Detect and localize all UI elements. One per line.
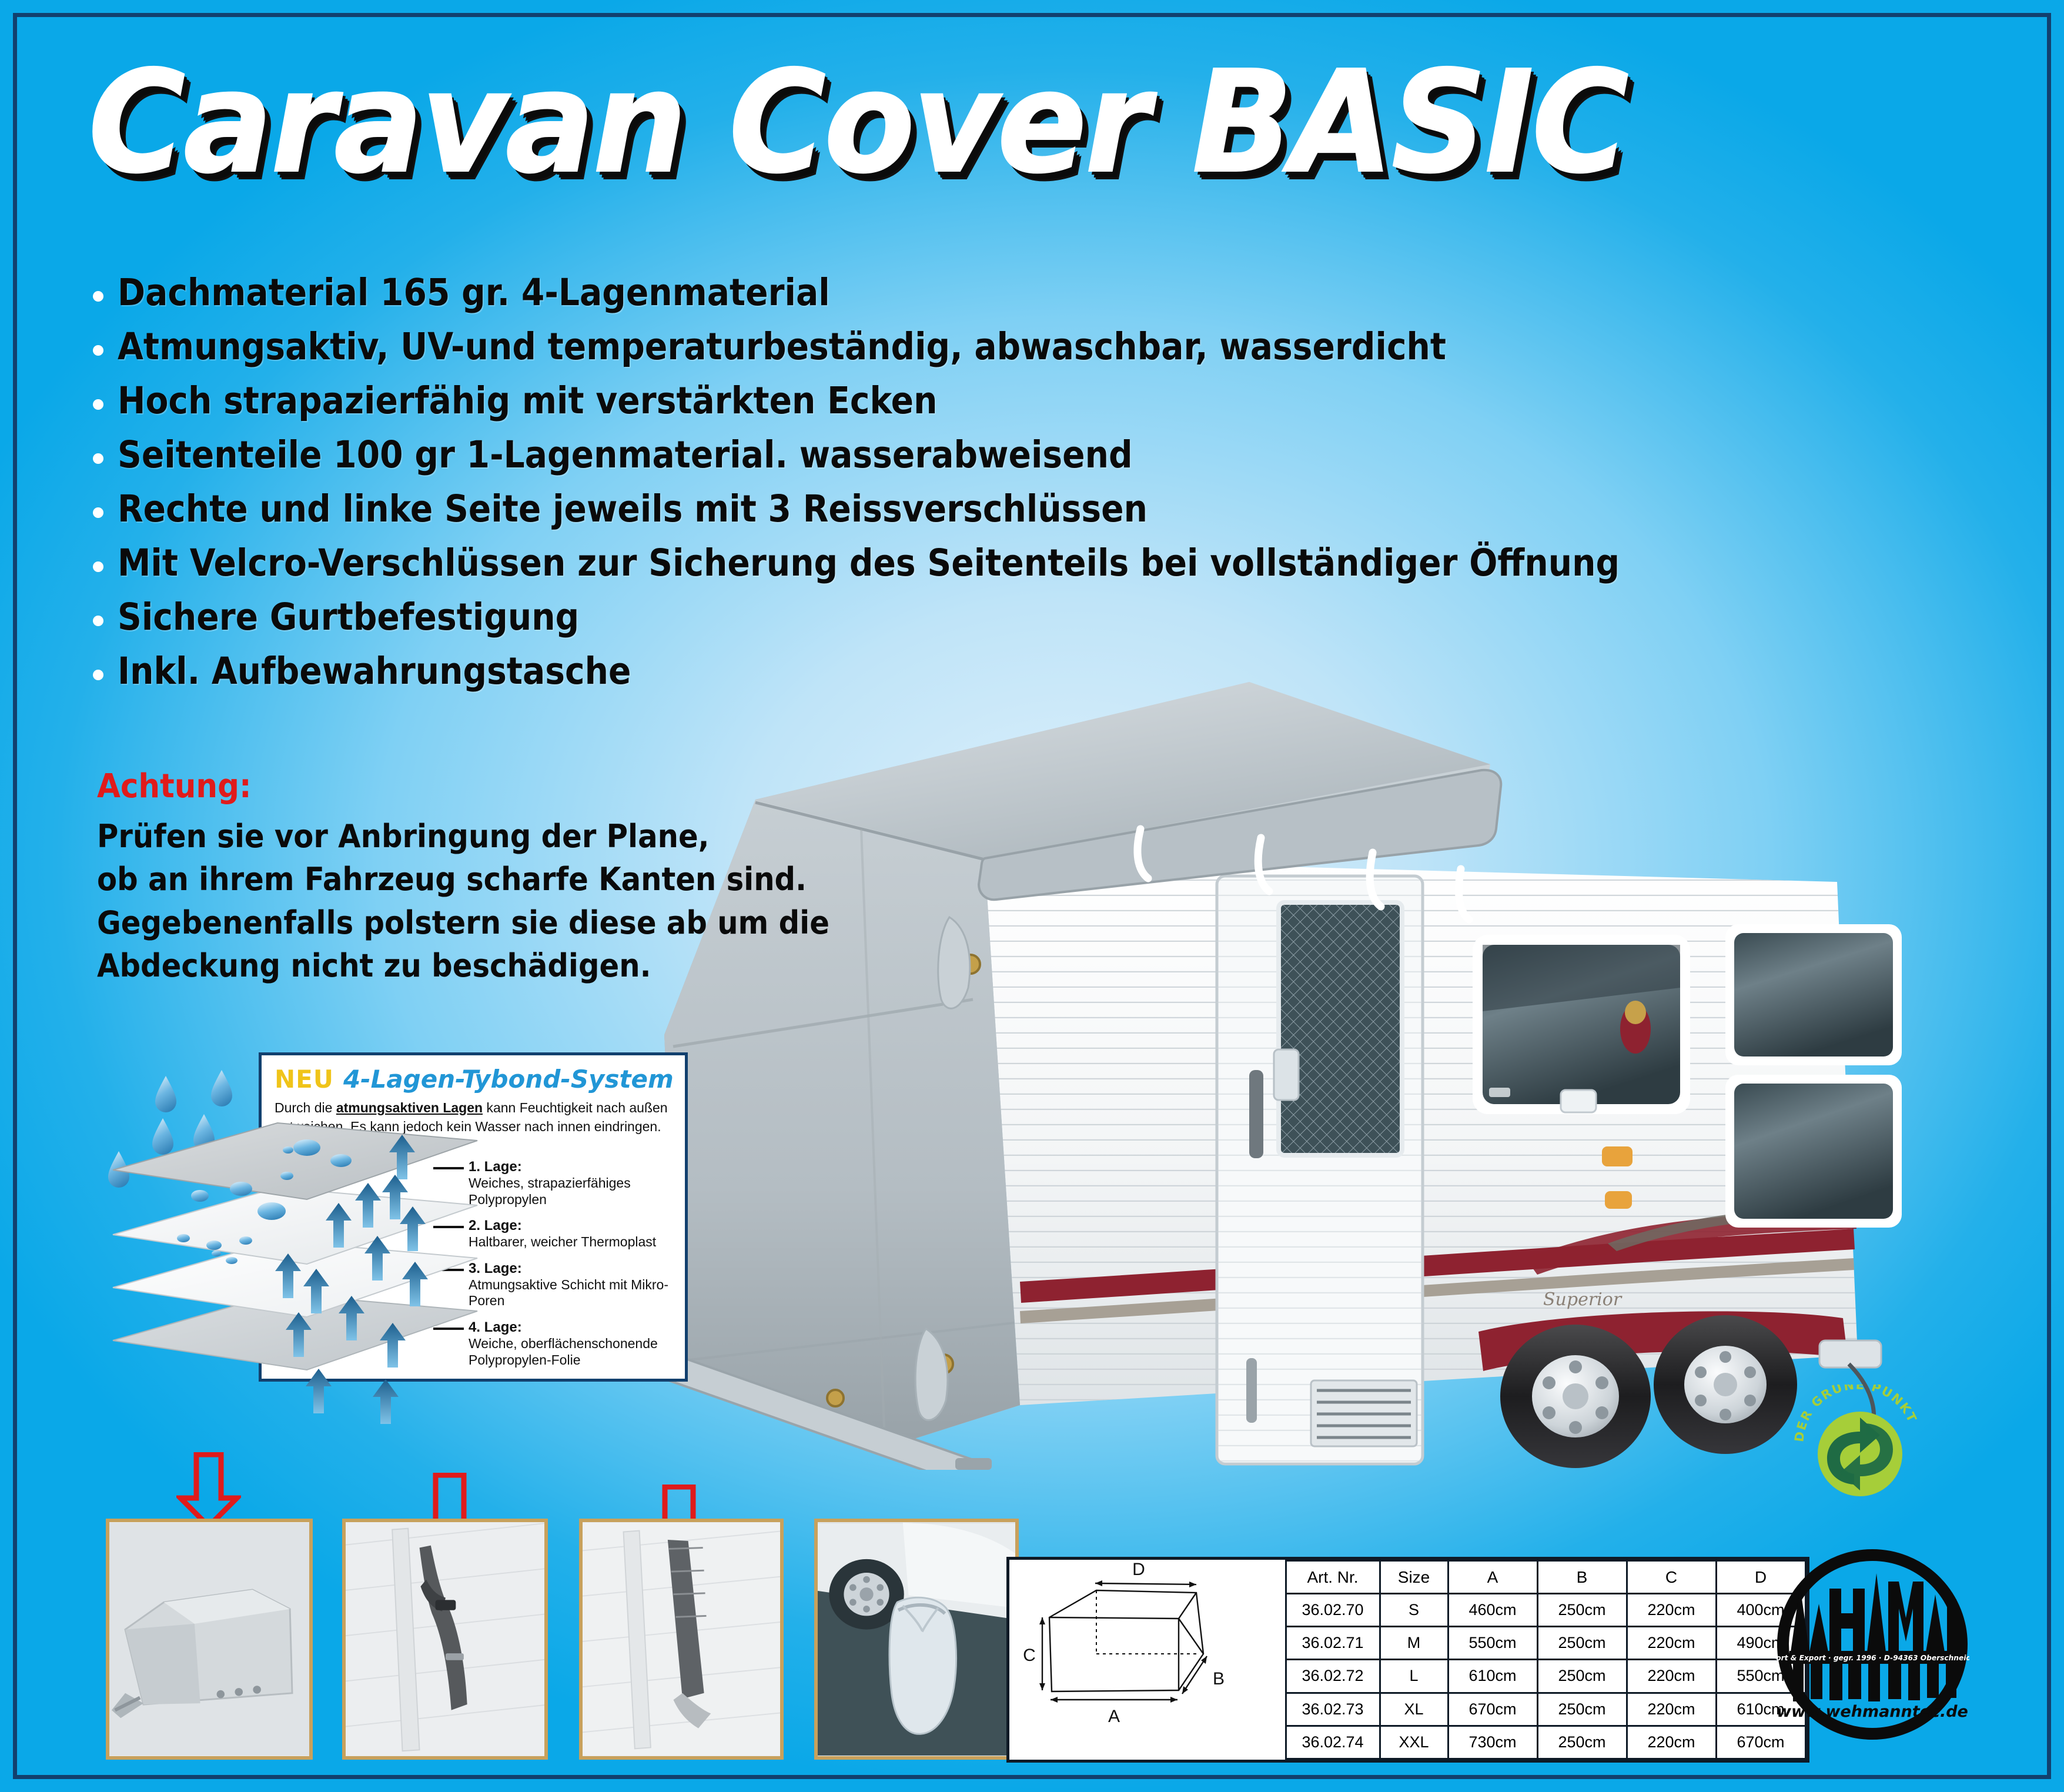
layer-description: Haltbarer, weicher Thermoplast	[469, 1234, 680, 1251]
der-gruene-punkt-icon: DER GRÜNE PUNKT	[1791, 1385, 1926, 1505]
th-art-nr: Art. Nr.	[1286, 1561, 1380, 1594]
table-row: 36.02.72 L 610cm 250cm 220cm 550cm	[1262, 1660, 1805, 1693]
layer-sheets-illustration	[101, 1064, 489, 1429]
cell-art-nr: 36.02.74	[1286, 1726, 1380, 1758]
bullet-dot-icon	[93, 345, 103, 356]
table-header-row: Art. Nr. Size A B C D	[1262, 1561, 1805, 1594]
caravan-door	[1217, 876, 1423, 1464]
feature-label: Atmungsaktiv, UV-und temperaturbeständig…	[118, 327, 1446, 367]
cell-a: 550cm	[1448, 1627, 1537, 1660]
caravan-window-rear	[1725, 924, 1902, 1228]
cell-b: 250cm	[1537, 1660, 1627, 1693]
cell-size: L	[1380, 1660, 1448, 1693]
table-row: 36.02.73 XL 670cm 250cm 220cm 610cm	[1262, 1693, 1805, 1726]
dim-label-a: A	[1108, 1707, 1120, 1726]
cell-c: 220cm	[1627, 1726, 1716, 1758]
cell-c: 220cm	[1627, 1627, 1716, 1660]
logo-website: www.wehmanntec.de	[1777, 1703, 1968, 1721]
cell-c: 220cm	[1627, 1693, 1716, 1726]
thumbnail-strap-buckle	[342, 1519, 548, 1760]
size-table: Art. Nr. Size A B C D 36.02.70 S 460cm 2…	[1262, 1560, 1807, 1760]
layer-number: 4. Lage:	[469, 1319, 680, 1336]
spacer-cell	[1262, 1594, 1286, 1627]
thumbnail-caravan-covered	[106, 1519, 313, 1760]
spacer-cell	[1262, 1561, 1286, 1594]
feature-label: Seitenteile 100 gr 1-Lagenmaterial. wass…	[118, 436, 1133, 475]
th-size: Size	[1380, 1561, 1448, 1594]
layer-label-1: 1. Lage: Weiches, strapazierfähiges Poly…	[469, 1159, 680, 1208]
layer-label-2: 2. Lage: Haltbarer, weicher Thermoplast	[469, 1218, 680, 1251]
spacer-cell	[1262, 1693, 1286, 1726]
cell-b: 250cm	[1537, 1594, 1627, 1627]
list-item: Sichere Gurtbefestigung	[93, 598, 1915, 640]
cell-size: XL	[1380, 1693, 1448, 1726]
layer-description: Weiches, strapazierfähiges Polypropylen	[469, 1175, 680, 1208]
thumbnail-velcro-strap	[579, 1519, 784, 1760]
cell-art-nr: 36.02.73	[1286, 1693, 1380, 1726]
pointer-arrow-1	[176, 1452, 241, 1529]
layer-number: 3. Lage:	[469, 1261, 680, 1277]
feature-list: Dachmaterial 165 gr. 4-Lagenmaterial Atm…	[93, 273, 1915, 706]
list-item: Seitenteile 100 gr 1-Lagenmaterial. wass…	[93, 436, 1915, 478]
cell-a: 730cm	[1448, 1726, 1537, 1758]
size-specification-block: D C A	[1006, 1557, 1809, 1763]
cell-a: 670cm	[1448, 1693, 1537, 1726]
th-c: C	[1627, 1561, 1716, 1594]
feature-label: Rechte und linke Seite jeweils mit 3 Rei…	[118, 490, 1148, 529]
layer-description: Weiche, oberflächenschonende Polypropyle…	[469, 1336, 680, 1368]
list-item: Inkl. Aufbewahrungstasche	[93, 652, 1915, 694]
dimension-diagram: D C A	[1009, 1560, 1262, 1760]
svg-text:Superior: Superior	[1543, 1289, 1623, 1310]
dim-label-c: C	[1023, 1646, 1036, 1665]
cell-size: XXL	[1380, 1726, 1448, 1758]
table-row: 36.02.74 XXL 730cm 250cm 220cm 670cm	[1262, 1726, 1805, 1758]
cell-a: 610cm	[1448, 1660, 1537, 1693]
cell-c: 220cm	[1627, 1660, 1716, 1693]
th-b: B	[1537, 1561, 1627, 1594]
layer-label-4: 4. Lage: Weiche, oberflächenschonende Po…	[469, 1319, 680, 1368]
layer-number: 1. Lage:	[469, 1159, 680, 1175]
table-row: 36.02.70 S 460cm 250cm 220cm 400cm	[1262, 1594, 1805, 1627]
warning-line: Abdeckung nicht zu beschädigen.	[97, 944, 829, 987]
warning-line: ob an ihrem Fahrzeug scharfe Kanten sind…	[97, 858, 829, 901]
list-item: Hoch strapazierfähig mit verstärkten Eck…	[93, 382, 1915, 424]
feature-label: Sichere Gurtbefestigung	[118, 598, 579, 637]
list-item: Dachmaterial 165 gr. 4-Lagenmaterial	[93, 273, 1915, 316]
caravan-window-front	[1473, 935, 1690, 1114]
dim-label-b: B	[1213, 1669, 1225, 1689]
feature-label: Hoch strapazierfähig mit verstärkten Eck…	[118, 382, 937, 421]
warning-block: Achtung: Prüfen sie vor Anbringung der P…	[97, 767, 893, 988]
cell-size: S	[1380, 1594, 1448, 1627]
spacer-cell	[1262, 1726, 1286, 1758]
cell-c: 220cm	[1627, 1594, 1716, 1627]
logo-tagline: Import & Export · gegr. 1996 · D-94363 O…	[1775, 1654, 1969, 1662]
warning-line: Gegebenenfalls polstern sie diese ab um …	[97, 901, 829, 944]
cell-art-nr: 36.02.72	[1286, 1660, 1380, 1693]
th-a: A	[1448, 1561, 1537, 1594]
bullet-dot-icon	[93, 399, 103, 410]
layer-description: Atmungsaktive Schicht mit Mikro-Poren	[469, 1277, 680, 1309]
feature-label: Dachmaterial 165 gr. 4-Lagenmaterial	[118, 273, 830, 313]
list-item: Atmungsaktiv, UV-und temperaturbeständig…	[93, 327, 1915, 370]
thumbnail-storage-bag	[814, 1519, 1019, 1760]
warning-line: Prüfen sie vor Anbringung der Plane,	[97, 815, 829, 858]
warning-heading: Achtung:	[97, 767, 829, 805]
layer-number: 2. Lage:	[469, 1218, 680, 1234]
cell-b: 250cm	[1537, 1726, 1627, 1758]
layer-sheet-2	[113, 1188, 477, 1264]
spacer-cell	[1262, 1627, 1286, 1660]
bullet-dot-icon	[93, 453, 103, 464]
cell-art-nr: 36.02.71	[1286, 1627, 1380, 1660]
feature-label: Inkl. Aufbewahrungstasche	[118, 652, 631, 691]
layer-label-3: 3. Lage: Atmungsaktive Schicht mit Mikro…	[469, 1261, 680, 1309]
cell-a: 460cm	[1448, 1594, 1537, 1627]
layer-system-diagram: NEU4-Lagen-Tybond-System Durch die atmun…	[101, 1052, 689, 1440]
list-item: Rechte und linke Seite jeweils mit 3 Rei…	[93, 490, 1915, 532]
spacer-cell	[1262, 1660, 1286, 1693]
table-row: 36.02.71 M 550cm 250cm 220cm 490cm	[1262, 1627, 1805, 1660]
bullet-dot-icon	[93, 507, 103, 518]
cell-size: M	[1380, 1627, 1448, 1660]
bullet-dot-icon	[93, 670, 103, 680]
cell-art-nr: 36.02.70	[1286, 1594, 1380, 1627]
list-item: Mit Velcro-Verschlüssen zur Sicherung de…	[93, 544, 1915, 586]
product-title-block: Caravan Cover BASIC	[88, 52, 1725, 193]
cell-b: 250cm	[1537, 1627, 1627, 1660]
bullet-dot-icon	[93, 616, 103, 626]
poster-canvas: Caravan Cover BASIC	[0, 0, 2064, 1792]
bullet-dot-icon	[93, 561, 103, 572]
dim-label-d: D	[1132, 1560, 1145, 1579]
product-title: Caravan Cover BASIC	[88, 52, 1627, 193]
layer-label-list: 1. Lage: Weiches, strapazierfähiges Poly…	[469, 1159, 680, 1378]
feature-label: Mit Velcro-Verschlüssen zur Sicherung de…	[118, 544, 1620, 583]
bullet-dot-icon	[93, 291, 103, 302]
company-logo: Import & Export · gegr. 1996 · D-94363 O…	[1775, 1547, 1969, 1741]
cell-b: 250cm	[1537, 1693, 1627, 1726]
